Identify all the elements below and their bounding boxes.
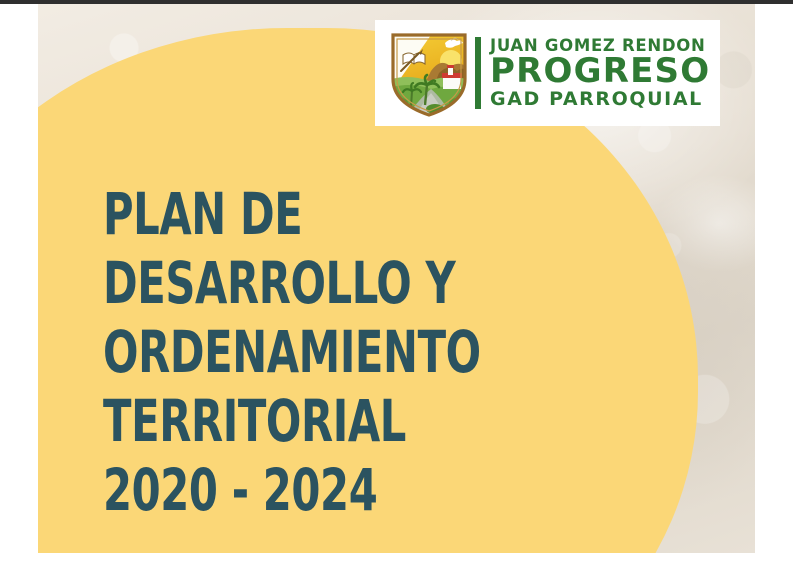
cover-slide: JUAN GOMEZ RENDON PROGRESO GAD PARROQUIA… xyxy=(38,4,755,553)
logo-main-name: PROGRESO xyxy=(490,54,710,89)
organization-logo-card: JUAN GOMEZ RENDON PROGRESO GAD PARROQUIA… xyxy=(375,20,720,126)
cover-title-block: PLAN DE DESARROLLO Y ORDENAMIENTO TERRIT… xyxy=(103,180,623,525)
document-page: JUAN GOMEZ RENDON PROGRESO GAD PARROQUIA… xyxy=(0,0,793,561)
top-window-strip xyxy=(0,0,793,4)
title-line-4: TERRITORIAL xyxy=(103,387,519,456)
title-line-1: PLAN DE xyxy=(103,180,519,249)
coat-of-arms-shield-icon xyxy=(385,27,473,119)
title-line-3: ORDENAMIENTO xyxy=(103,318,519,387)
logo-subtitle: GAD PARROQUIAL xyxy=(490,89,710,110)
title-line-5-period: 2020 - 2024 xyxy=(103,456,519,525)
logo-text-block: JUAN GOMEZ RENDON PROGRESO GAD PARROQUIA… xyxy=(490,37,710,110)
logo-divider-bar xyxy=(475,37,481,109)
title-line-2: DESARROLLO Y xyxy=(103,249,519,318)
